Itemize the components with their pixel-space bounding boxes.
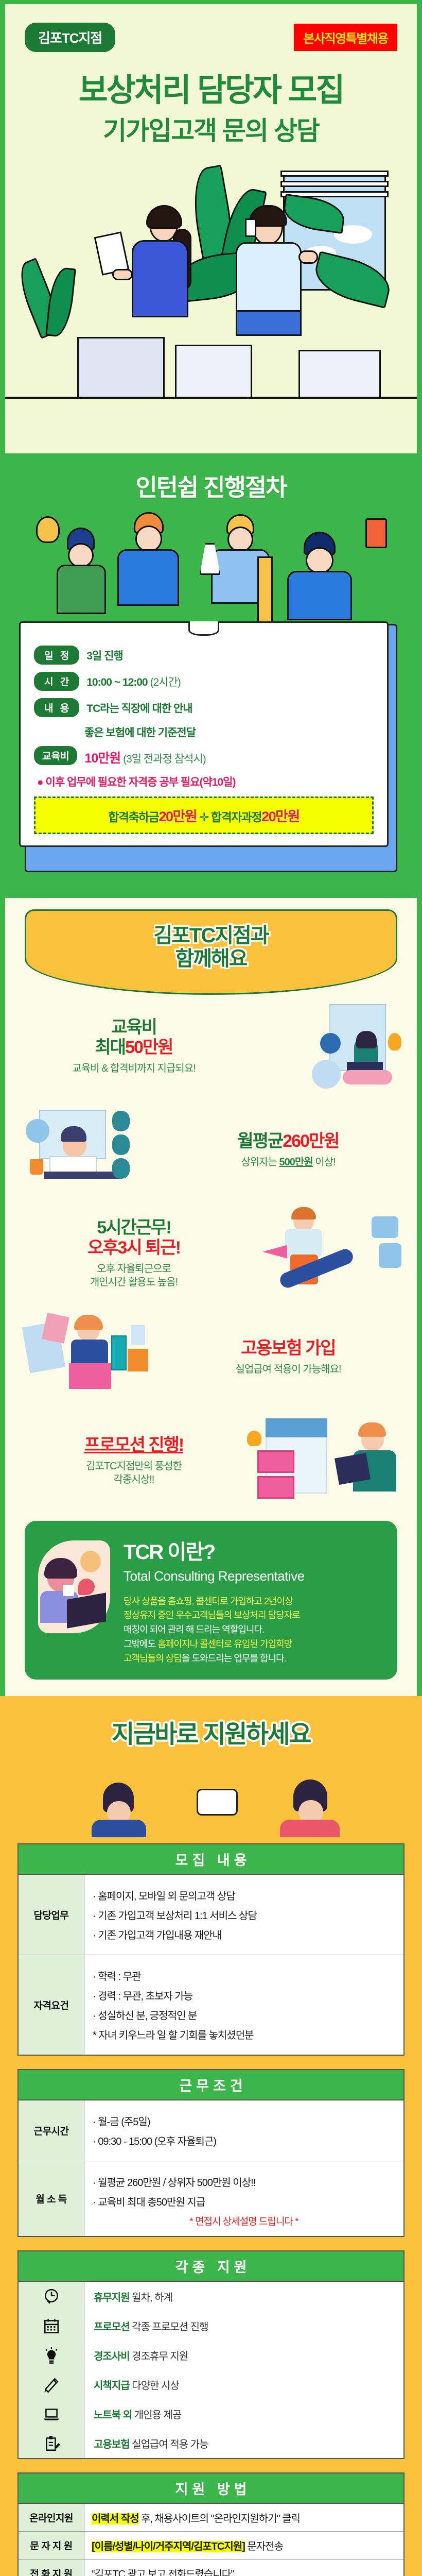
benefit-text: 교육비 최대50만원 교육비 & 합격비까지 지급되요! xyxy=(21,1018,247,1075)
list-item: · 월평균 260만원 / 상위자 500만원 이상!! xyxy=(93,2174,395,2189)
benefit-heading: 5시간근무! 오후3시 퇴근! xyxy=(21,1218,247,1258)
time-label: 시 간 xyxy=(34,672,79,691)
student-figure xyxy=(134,512,179,606)
benefit-heading-red: 고용보험 가입 xyxy=(241,1338,335,1358)
education-illustration xyxy=(247,1004,401,1089)
benefit-heading-red: 프로모션 진행! xyxy=(84,1435,183,1455)
row-content: “김포TC 광고 보고 전화드렸습니다” xyxy=(84,2560,403,2576)
row-label: 담당업무 xyxy=(19,1875,84,1955)
icon-cell xyxy=(19,2341,84,2370)
hero-badge-row: 김포TC지점 본사직영특별채용 xyxy=(5,23,417,52)
table-row: 문 자 지 원 [이름/성별/나이/거주지역/김포TC지원] 문자전송 xyxy=(19,2532,403,2560)
benefit-item-work-hours: 5시간근무! 오후3시 퇴근! 오후 자율퇴근으로 개인시간 활용도 높음! xyxy=(5,1202,417,1306)
page-title: 보상처리 담당자 모집 xyxy=(5,74,417,108)
content-label: 내 용 xyxy=(34,698,79,717)
support-text: 경조사비 경조휴무 지원 xyxy=(84,2341,403,2370)
list-item: * 자녀 키우느라 일 할 기회를 놓치셨던분 xyxy=(93,2027,395,2042)
info-card-shadow: 일 정 3일 진행 시 간 10:00 ~ 12:00 (2시간) 내 용 TC… xyxy=(25,624,397,872)
list-item: · 교육비 최대 총50만원 지급 xyxy=(93,2194,395,2209)
internship-title: 인턴쉽 진행절차 xyxy=(5,469,417,503)
support-text: 휴무지원 월차, 하계 xyxy=(84,2282,403,2311)
time-note: (2시간) xyxy=(150,676,180,688)
bonus-amount-1: 20만원 xyxy=(159,809,197,824)
tcr-line-4: 그밖에도 홈페이지나 콜센터로 유입된 가입희망 xyxy=(124,1637,384,1652)
content-row: 내 용 TC라는 직장에 대한 안내 xyxy=(34,698,374,717)
benefit-heading-pre: 월평균 xyxy=(237,1131,283,1151)
method-detail: 후, 채용사이트의 "온라인지원하기" 클릭 xyxy=(139,2513,300,2524)
table-row: 자격요건 · 학력 : 무관 · 경력 : 무관, 초보자 가능 · 성실하신 … xyxy=(19,1955,403,2055)
tcr-line-1: 당사 상품을 홈쇼핑, 콜센터로 가입하고 2년이상 xyxy=(124,1595,384,1609)
support-detail: 개인용 제공 xyxy=(132,2410,181,2421)
highlighted-text: [이름/성별/나이/거주지역/김포TC지원] xyxy=(92,2541,245,2552)
person-body-icon xyxy=(92,1820,146,1837)
list-item: · 09:30 - 15:00 (오후 자율퇴근) xyxy=(93,2133,395,2148)
row-content: [이름/성별/나이/거주지역/김포TC지원] 문자전송 xyxy=(84,2532,403,2559)
row-label: 문 자 지 원 xyxy=(19,2532,84,2559)
benefit-item-promotion: 프로모션 진행! 김포TC지점만의 풍성한 각종시상!! xyxy=(5,1409,417,1513)
benefit-text: 5시간근무! 오후3시 퇴근! 오후 자율퇴근으로 개인시간 활용도 높음! xyxy=(21,1218,247,1289)
content-value: TC라는 직장에 대한 안내 xyxy=(86,698,192,716)
benefit-item-education-fee: 교육비 최대50만원 교육비 & 합격비까지 지급되요! xyxy=(5,995,417,1098)
list-item: · 기존 가입고객 보상처리 1:1 서비스 상담 xyxy=(93,1907,395,1922)
support-detail: 경조휴무 지원 xyxy=(130,2351,188,2362)
support-label: 프로모션 xyxy=(94,2321,130,2333)
interview-note: * 면접시 상세설명 드립니다 * xyxy=(93,2214,395,2228)
student-figure xyxy=(67,528,106,614)
list-item: · 성실하신 분, 긍정적인 분 xyxy=(93,2007,395,2022)
tcr-line-5: 고객님들의 상담을 도와드리는 업무를 합니다. xyxy=(124,1652,384,1666)
benefit-heading: 고용보험 가입 xyxy=(175,1338,401,1359)
fee-note: (3일 전과정 참석시) xyxy=(123,753,206,765)
table-row: 담당업무 · 홈페이지, 모바일 외 문의고객 상담 · 기존 가입고객 보상처… xyxy=(19,1875,403,1955)
method-detail: “김포TC 광고 보고 전화드렸습니다” xyxy=(92,2566,396,2576)
benefit-heading-red: 오후3시 퇴근! xyxy=(87,1238,180,1258)
lightbulb-icon xyxy=(36,516,60,543)
benefits-section: 김포TC지점과 함께해요 교육비 최대50만원 교육비 & 합격비까지 지급되요… xyxy=(0,898,422,1696)
benefit-text: 프로모션 진행! 김포TC지점만의 풍성한 각종시상!! xyxy=(21,1435,247,1486)
benefit-subtext: 상위자는 500만원 이상! xyxy=(175,1156,401,1169)
insurance-illustration xyxy=(21,1315,175,1400)
support-row: 프로모션 각종 프로모션 진행 xyxy=(19,2311,403,2341)
branch-badge: 김포TC지점 xyxy=(25,23,115,52)
benefit-sub-line2: 각종시상!! xyxy=(114,1474,154,1485)
ad-page: 김포TC지점 본사직영특별채용 보상처리 담당자 모집 기가입고객 문의 상담 xyxy=(0,0,422,2576)
benefit-heading-pre: 교육비 xyxy=(111,1018,156,1037)
row-content: · 월평균 260만원 / 상위자 500만원 이상!! · 교육비 최대 총5… xyxy=(84,2161,403,2236)
tcr-title: TCR 이란? xyxy=(124,1535,384,1565)
table-heading: 지원 방법 xyxy=(19,2473,403,2504)
apply-section: 지금바로 지원하세요 모집 내용 담당업무 · 홈페이지, 모바일 외 문의고객… xyxy=(0,1696,422,2576)
support-text: 프로모션 각종 프로모션 진행 xyxy=(84,2311,403,2341)
student-figure xyxy=(304,532,352,620)
table-heading: 각종 지원 xyxy=(19,2251,403,2282)
support-detail: 각종 프로모션 진행 xyxy=(130,2321,208,2333)
support-row: 노트북 외 개인용 제공 xyxy=(19,2399,403,2429)
fee-label: 교육비 xyxy=(34,746,77,765)
highlighted-text: 이력서 작성 xyxy=(92,2513,139,2524)
table-row: 전 화 지 원 “김포TC 광고 보고 전화드렸습니다” xyxy=(19,2560,403,2576)
apply-title: 지금바로 지원하세요 xyxy=(5,1714,417,1750)
benefit-sub-line1: 오후 자율퇴근으로 xyxy=(97,1263,171,1275)
clock-icon xyxy=(43,2288,60,2306)
list-item: · 경력 : 무관, 초보자 가능 xyxy=(93,1988,395,2003)
bonus-label-1: 합격축하금 xyxy=(108,810,159,824)
diploma-icon xyxy=(43,2376,60,2394)
benefit-heading: 월평균260만원 xyxy=(175,1131,401,1151)
income-illustration xyxy=(21,1108,175,1193)
support-label: 고용보험 xyxy=(94,2439,130,2450)
icon-cell xyxy=(19,2311,84,2341)
card-notch xyxy=(188,621,219,636)
clipboard-icon xyxy=(43,2435,60,2452)
schedule-row: 일 정 3일 진행 xyxy=(34,646,374,665)
benefit-text: 고용보험 가입 실업급여 적용이 가능해요! xyxy=(175,1338,401,1376)
benefit-sub-line1: 김포TC지점만의 풍성한 xyxy=(86,1461,182,1472)
list-item: · 학력 : 무관 xyxy=(93,1968,395,1983)
internship-info-card-wrap: 일 정 3일 진행 시 간 10:00 ~ 12:00 (2시간) 내 용 TC… xyxy=(5,624,417,872)
internship-section: 인턴쉽 진행절차 xyxy=(0,453,422,898)
support-row: 고용보험 실업급여 적용 가능 xyxy=(19,2429,403,2458)
book-icon xyxy=(365,518,387,548)
apply-illustration xyxy=(5,1759,417,1836)
students-illustration xyxy=(5,507,417,633)
benefit-sub-pre: 상위자는 xyxy=(241,1157,279,1168)
lightbulb-icon xyxy=(43,2347,60,2364)
row-label: 월 소 득 xyxy=(19,2161,84,2236)
row-content: · 홈페이지, 모바일 외 문의고객 상담 · 기존 가입고객 보상처리 1:1… xyxy=(84,1875,403,1955)
benefit-text: 월평균260만원 상위자는 500만원 이상! xyxy=(175,1131,401,1169)
benefit-subtext: 김포TC지점만의 풍성한 각종시상!! xyxy=(21,1460,247,1486)
support-label: 노트북 외 xyxy=(94,2410,132,2421)
support-label: 시책지급 xyxy=(94,2380,130,2392)
tcr-paragraph: 당사 상품을 홈쇼핑, 콜센터로 가입하고 2년이상 정상유지 중인 우수고객님… xyxy=(124,1595,384,1666)
tcr-box: TCR 이란? Total Consulting Representative … xyxy=(25,1521,397,1680)
support-row: 휴무지원 월차, 하계 xyxy=(19,2282,403,2311)
row-content: · 학력 : 무관 · 경력 : 무관, 초보자 가능 · 성실하신 분, 긍정… xyxy=(84,1955,403,2055)
list-item: · 월-금 (주5일) xyxy=(93,2113,395,2128)
method-detail: 문자전송 xyxy=(245,2541,283,2552)
bonus-label-2: 합격자과정 xyxy=(211,810,261,824)
table-row: 온라인지원 이력서 작성 후, 채용사이트의 "온라인지원하기" 클릭 xyxy=(19,2504,403,2532)
person-body-icon xyxy=(280,1820,340,1837)
time-value: 10:00 ~ 12:00 (2시간) xyxy=(86,672,181,689)
time-row: 시 간 10:00 ~ 12:00 (2시간) xyxy=(34,672,374,691)
laptop-icon xyxy=(43,2405,60,2423)
tcr-line-3: 매칭이 되어 관리 해 드리는 역할입니다. xyxy=(124,1623,384,1637)
tcr-line-4a: 그밖에도 xyxy=(124,1639,157,1649)
row-content: · 월-금 (주5일) · 09:30 - 15:00 (오후 자율퇴근) xyxy=(84,2100,403,2161)
internship-info-card: 일 정 3일 진행 시 간 10:00 ~ 12:00 (2시간) 내 용 TC… xyxy=(19,621,389,847)
list-item: · 기존 가입고객 가입내용 재안내 xyxy=(93,1927,395,1942)
benefit-heading: 프로모션 진행! xyxy=(21,1435,247,1455)
promotion-illustration xyxy=(247,1418,401,1503)
support-row: 경조사비 경조휴무 지원 xyxy=(19,2341,403,2370)
page-subtitle: 기가입고객 문의 상담 xyxy=(5,110,417,147)
schedule-value: 3일 진행 xyxy=(86,646,122,663)
schedule-label: 일 정 xyxy=(34,646,79,665)
support-label: 경조사비 xyxy=(94,2351,130,2362)
benefit-sub-emphasis: 500만원 xyxy=(279,1157,313,1168)
row-label: 근무시간 xyxy=(19,2100,84,2161)
bonus-amount-2: 20만원 xyxy=(261,809,300,824)
benefit-subtext: 오후 자율퇴근으로 개인시간 활용도 높음! xyxy=(21,1262,247,1289)
study-bullet: ● 이후 업무에 필요한 자격증 공부 필요(약10일) xyxy=(37,774,374,789)
icon-cell xyxy=(19,2282,84,2311)
fee-value: 10만원 (3일 전과정 참석시) xyxy=(84,746,205,767)
hero-section: 김포TC지점 본사직영특별채용 보상처리 담당자 모집 기가입고객 문의 상담 xyxy=(0,0,422,453)
benefit-item-employment-insurance: 고용보험 가입 실업급여 적용이 가능해요! xyxy=(5,1306,417,1409)
flask-icon xyxy=(200,543,220,575)
tcr-english: Total Consulting Representative xyxy=(124,1568,384,1584)
support-detail: 다양한 시상 xyxy=(130,2380,179,2392)
tcr-line-4b: 홈페이지나 콜센터로 유입된 가입희망 xyxy=(157,1639,292,1649)
benefit-heading: 교육비 최대50만원 xyxy=(21,1018,247,1058)
benefits-title-line2: 함께해요 xyxy=(26,947,396,971)
table-heading: 근무조건 xyxy=(19,2070,403,2100)
table-heading: 모집 내용 xyxy=(19,1844,403,1875)
benefit-item-income: 월평균260만원 상위자는 500만원 이상! xyxy=(5,1098,417,1202)
fee-row: 교육비 10만원 (3일 전과정 참석시) xyxy=(34,746,374,767)
time-value-text: 10:00 ~ 12:00 xyxy=(86,676,147,688)
support-label: 휴무지원 xyxy=(94,2292,130,2303)
bonus-highlight-box: 합격축하금20만원 ✛ 합격자과정20만원 xyxy=(34,796,374,834)
row-label: 온라인지원 xyxy=(19,2504,84,2531)
row-label: 자격요건 xyxy=(19,1955,84,2055)
support-row: 시책지급 다양한 시상 xyxy=(19,2370,403,2399)
table-work-conditions: 근무조건 근무시간 · 월-금 (주5일) · 09:30 - 15:00 (오… xyxy=(17,2069,405,2237)
table-support: 각종 지원 휴무지원 월차, 하계 xyxy=(17,2250,405,2459)
plus-icon: ✛ xyxy=(199,810,208,824)
content-extra: 좋은 보험에 대한 기준전달 xyxy=(84,724,374,740)
fee-amount: 10만원 xyxy=(84,751,120,766)
benefit-heading-red: 260만원 xyxy=(283,1131,339,1151)
benefit-subtext: 교육비 & 합격비까지 지급되요! xyxy=(21,1062,247,1075)
benefits-title-line1: 김포TC지점과 xyxy=(26,924,396,947)
tcr-line-2: 정상유지 중인 우수고객님들의 보상처리 담당자로 xyxy=(124,1608,384,1623)
support-detail: 실업급여 적용 가능 xyxy=(130,2439,208,2450)
benefit-sub-post: 이상! xyxy=(313,1157,336,1168)
benefit-sub-line2: 개인시간 활용도 높음! xyxy=(90,1277,178,1288)
tcr-line-5b: 을 도와드리는 업무를 합니다. xyxy=(182,1653,286,1664)
support-text: 고용보험 실업급여 적용 가능 xyxy=(84,2429,403,2458)
work-hours-illustration xyxy=(247,1211,401,1296)
table-row: 근무시간 · 월-금 (주5일) · 09:30 - 15:00 (오후 자율퇴… xyxy=(19,2100,403,2161)
table-apply-method: 지원 방법 온라인지원 이력서 작성 후, 채용사이트의 "온라인지원하기" 클… xyxy=(17,2472,405,2576)
support-text: 노트북 외 개인용 제공 xyxy=(84,2399,403,2429)
icon-cell xyxy=(19,2370,84,2399)
benefits-title-banner: 김포TC지점과 함께해요 xyxy=(25,909,397,995)
desk-row xyxy=(5,316,417,399)
tcr-line-5a: 고객님들의 상담 xyxy=(124,1653,182,1664)
support-detail: 월차, 하계 xyxy=(130,2292,172,2303)
row-label: 전 화 지 원 xyxy=(19,2560,84,2576)
icon-cell xyxy=(19,2399,84,2429)
speech-bubble-icon xyxy=(197,1789,238,1816)
benefit-heading-green: 최대 xyxy=(95,1038,126,1057)
benefit-heading-red: 50만원 xyxy=(125,1038,172,1057)
support-text: 시책지급 다양한 시상 xyxy=(84,2370,403,2399)
tcr-body: TCR 이란? Total Consulting Representative … xyxy=(124,1535,384,1666)
row-content: 이력서 작성 후, 채용사이트의 "온라인지원하기" 클릭 xyxy=(84,2504,403,2531)
benefit-subtext: 실업급여 적용이 가능해요! xyxy=(175,1363,401,1376)
benefit-heading-green: 5시간근무! xyxy=(97,1218,170,1238)
special-recruit-badge: 본사직영특별채용 xyxy=(294,24,397,51)
tcr-illustration xyxy=(38,1535,115,1638)
table-recruit-content: 모집 내용 담당업무 · 홈페이지, 모바일 외 문의고객 상담 · 기존 가입… xyxy=(17,1843,405,2056)
hero-illustration xyxy=(5,157,417,399)
table-row: 월 소 득 · 월평균 260만원 / 상위자 500만원 이상!! · 교육비… xyxy=(19,2161,403,2236)
list-item: · 홈페이지, 모바일 외 문의고객 상담 xyxy=(93,1888,395,1903)
calendar-icon xyxy=(43,2317,60,2335)
icon-cell xyxy=(19,2429,84,2458)
